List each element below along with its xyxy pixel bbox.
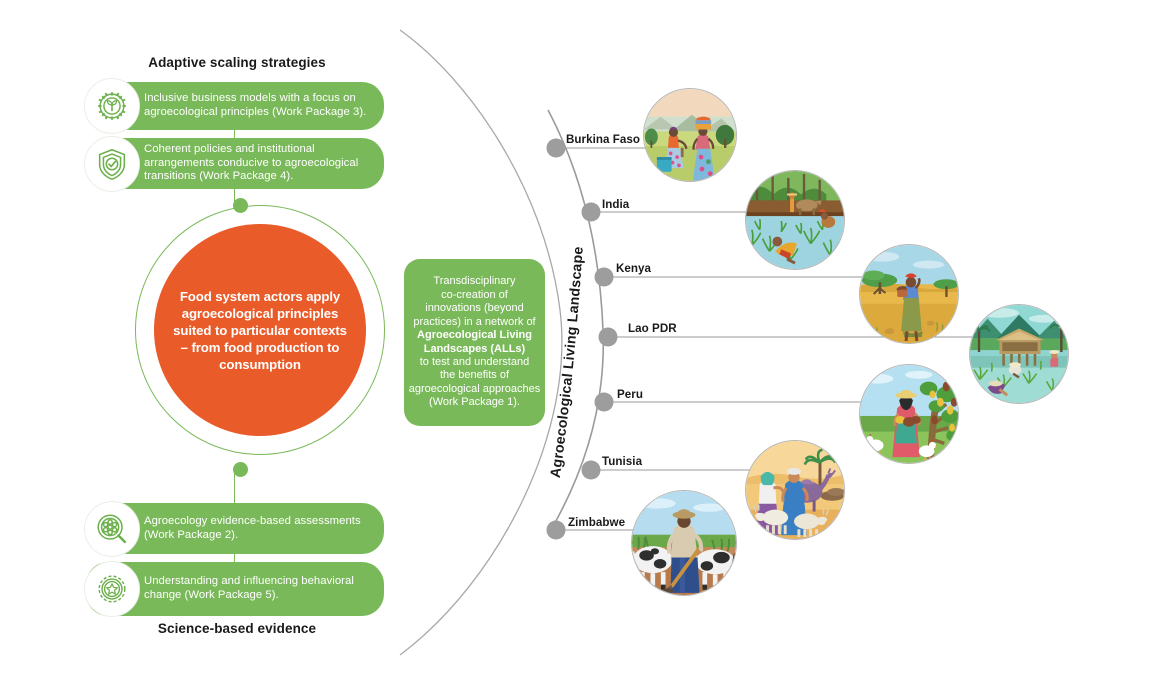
badge-star-icon <box>84 561 140 617</box>
country-label-peru: Peru <box>617 388 643 401</box>
country-label-zimbabwe: Zimbabwe <box>568 516 625 529</box>
card-work-package-3[interactable]: Inclusive business models with a focus o… <box>86 82 384 130</box>
country-label-india: India <box>602 198 629 211</box>
ring-node-bottom <box>233 462 248 477</box>
science-based-evidence-heading: Science-based evidence <box>87 621 387 636</box>
card-work-package-1[interactable]: Transdisciplinary co-creation of innovat… <box>404 259 545 426</box>
card-wp1-text: Transdisciplinary co-creation of innovat… <box>405 275 544 409</box>
country-label-burkina-faso: Burkina Faso <box>566 133 640 146</box>
core-statement-circle: Food system actors apply agroecological … <box>154 224 366 436</box>
node-arc <box>548 110 603 528</box>
ring-node-top <box>233 198 248 213</box>
wp1-line3: innovations (beyond <box>425 302 523 314</box>
photo-lao-pdr <box>969 304 1069 404</box>
node-tunisia <box>582 461 601 480</box>
wp1-line1: Transdisciplinary <box>433 275 515 287</box>
photo-tunisia <box>745 440 845 540</box>
core-statement-text: Food system actors apply agroecological … <box>169 288 351 373</box>
country-label-tunisia: Tunisia <box>602 455 642 468</box>
country-label-lao-pdr: Lao PDR <box>628 322 677 335</box>
wp1-line2: co-creation of <box>441 289 508 301</box>
node-peru <box>595 393 614 412</box>
photo-peru <box>859 364 959 464</box>
photo-burkina-faso <box>643 88 737 182</box>
node-india <box>582 203 601 222</box>
wp1-bold2: Landscapes (ALLs) <box>424 343 525 355</box>
node-lao <box>599 328 618 347</box>
photo-india <box>745 170 845 270</box>
wp1-line4: practices) in a network of <box>413 316 535 328</box>
wp1-line8: (Work Package 1). <box>429 396 520 408</box>
adaptive-scaling-heading: Adaptive scaling strategies <box>87 55 387 70</box>
node-kenya <box>595 268 614 287</box>
photo-kenya <box>859 244 959 344</box>
card-work-package-5[interactable]: Understanding and influencing behavioral… <box>86 562 384 616</box>
country-label-kenya: Kenya <box>616 262 651 275</box>
photo-zimbabwe <box>631 490 737 596</box>
wp1-bold1: Agroecological Living <box>417 329 532 341</box>
wp1-line7: agroecological approaches <box>409 383 540 395</box>
node-zimbabwe <box>547 521 566 540</box>
wp1-line6: the benefits of <box>440 369 509 381</box>
wp1-line5: to test and understand <box>420 356 529 368</box>
gear-sprout-icon <box>84 78 140 134</box>
card-work-package-2[interactable]: Agroecology evidence-based assessments (… <box>86 503 384 554</box>
card-work-package-4[interactable]: Coherent policies and institutional arra… <box>86 138 384 189</box>
shield-check-icon <box>84 136 140 192</box>
infographic-canvas: Adaptive scaling strategies Science-base… <box>0 0 1155 682</box>
magnifier-leaf-icon <box>84 501 140 557</box>
node-burkina <box>547 139 566 158</box>
